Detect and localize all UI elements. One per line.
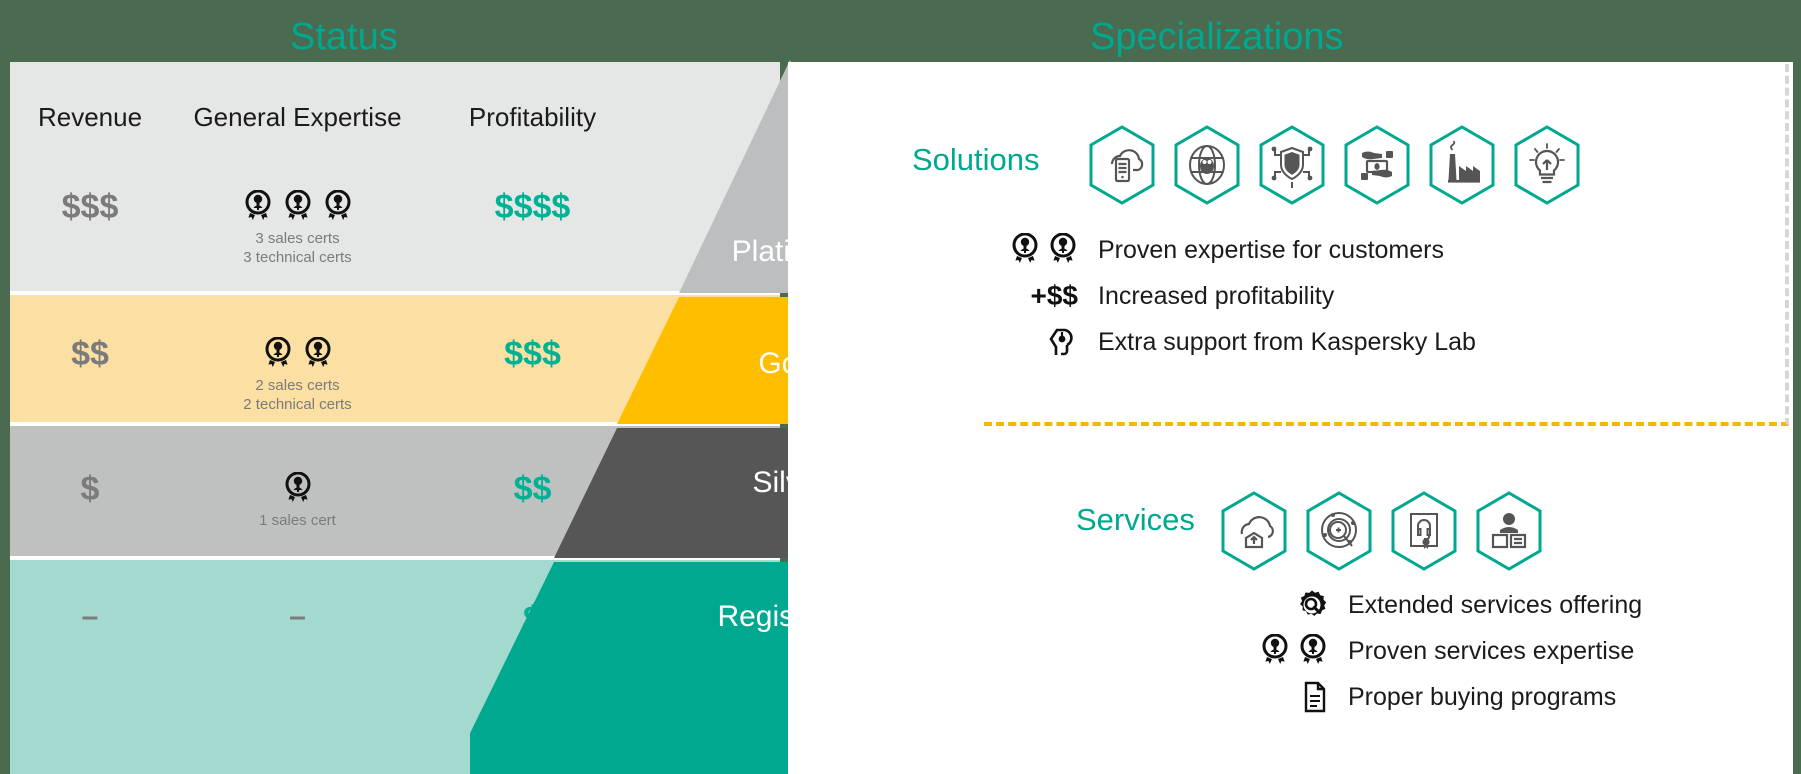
certs-gold: 2 sales certs 2 technical certs — [170, 377, 425, 415]
benefit-label: Proven services expertise — [1348, 637, 1634, 666]
services-benefits-list: Extended services offering Proven servic… — [1228, 582, 1642, 720]
benefit-label: Proven expertise for customers — [1098, 236, 1444, 265]
benefit-label: Proper buying programs — [1348, 683, 1616, 712]
services-icon-row — [1218, 490, 1545, 572]
cell-revenue-platinum: $$$ — [10, 190, 170, 224]
benefit-label: Increased profitability — [1098, 282, 1334, 311]
medal-group-gold — [170, 337, 425, 371]
medal-icon — [283, 472, 313, 506]
financial-transaction-icon[interactable] — [1341, 124, 1413, 206]
support-certificate-icon[interactable] — [1388, 490, 1460, 572]
benefit-item: Proven expertise for customers — [968, 227, 1476, 273]
cell-expertise-silver: 1 sales cert — [170, 472, 425, 531]
cell-expertise-registered: – — [170, 602, 425, 632]
medal-icon — [283, 190, 313, 224]
status-heading: Status — [290, 16, 398, 59]
certs-platinum: 3 sales certs 3 technical certs — [170, 230, 425, 268]
solutions-benefits-list: Proven expertise for customers +$$ Incre… — [968, 227, 1476, 365]
medal-icon — [243, 190, 273, 224]
shield-network-icon[interactable] — [1256, 124, 1328, 206]
two-medals-icon — [968, 233, 1098, 267]
cell-expertise-platinum: 3 sales certs 3 technical certs — [170, 190, 425, 268]
two-medals-icon — [1228, 634, 1348, 668]
cell-expertise-gold: 2 sales certs 2 technical certs — [170, 337, 425, 415]
training-education-icon[interactable] — [1473, 490, 1545, 572]
medal-group-platinum — [170, 190, 425, 224]
plus-money-icon: +$$ — [968, 280, 1098, 312]
threat-hunting-icon[interactable] — [1303, 490, 1375, 572]
solutions-title: Solutions — [912, 142, 1040, 178]
medal-icon — [303, 337, 333, 371]
globe-threat-icon[interactable] — [1171, 124, 1243, 206]
specializations-panel: Solutions — [788, 62, 1793, 774]
document-icon — [1228, 681, 1348, 713]
certs-silver: 1 sales cert — [170, 512, 425, 531]
benefit-label: Extra support from Kaspersky Lab — [1098, 328, 1476, 357]
medal-group-silver — [170, 472, 425, 506]
cell-revenue-gold: $$ — [10, 337, 170, 371]
lightbulb-idea-icon[interactable] — [1511, 124, 1583, 206]
cell-revenue-registered: – — [10, 602, 170, 632]
benefit-item: Extended services offering — [1228, 582, 1642, 628]
gear-search-icon — [1228, 589, 1348, 621]
medal-icon — [323, 190, 353, 224]
column-header-revenue: Revenue — [10, 102, 170, 133]
benefit-item: Extra support from Kaspersky Lab — [968, 319, 1476, 365]
infographic-canvas: Status Specializations Revenue General E… — [0, 0, 1801, 774]
cell-revenue-silver: $ — [10, 472, 170, 506]
plus-money-label: +$$ — [1031, 280, 1079, 312]
column-header-general-expertise: General Expertise — [170, 102, 425, 133]
benefit-item: Proper buying programs — [1228, 674, 1642, 720]
industrial-plant-icon[interactable] — [1426, 124, 1498, 206]
benefit-item: Proven services expertise — [1228, 628, 1642, 674]
services-title: Services — [1076, 502, 1195, 538]
headset-support-icon — [968, 325, 1098, 359]
specializations-heading: Specializations — [1090, 16, 1343, 59]
benefit-item: +$$ Increased profitability — [968, 273, 1476, 319]
solutions-icon-row — [1086, 124, 1583, 206]
benefit-label: Extended services offering — [1348, 591, 1642, 620]
cloud-upload-icon[interactable] — [1218, 490, 1290, 572]
medal-icon — [263, 337, 293, 371]
cloud-server-icon[interactable] — [1086, 124, 1158, 206]
